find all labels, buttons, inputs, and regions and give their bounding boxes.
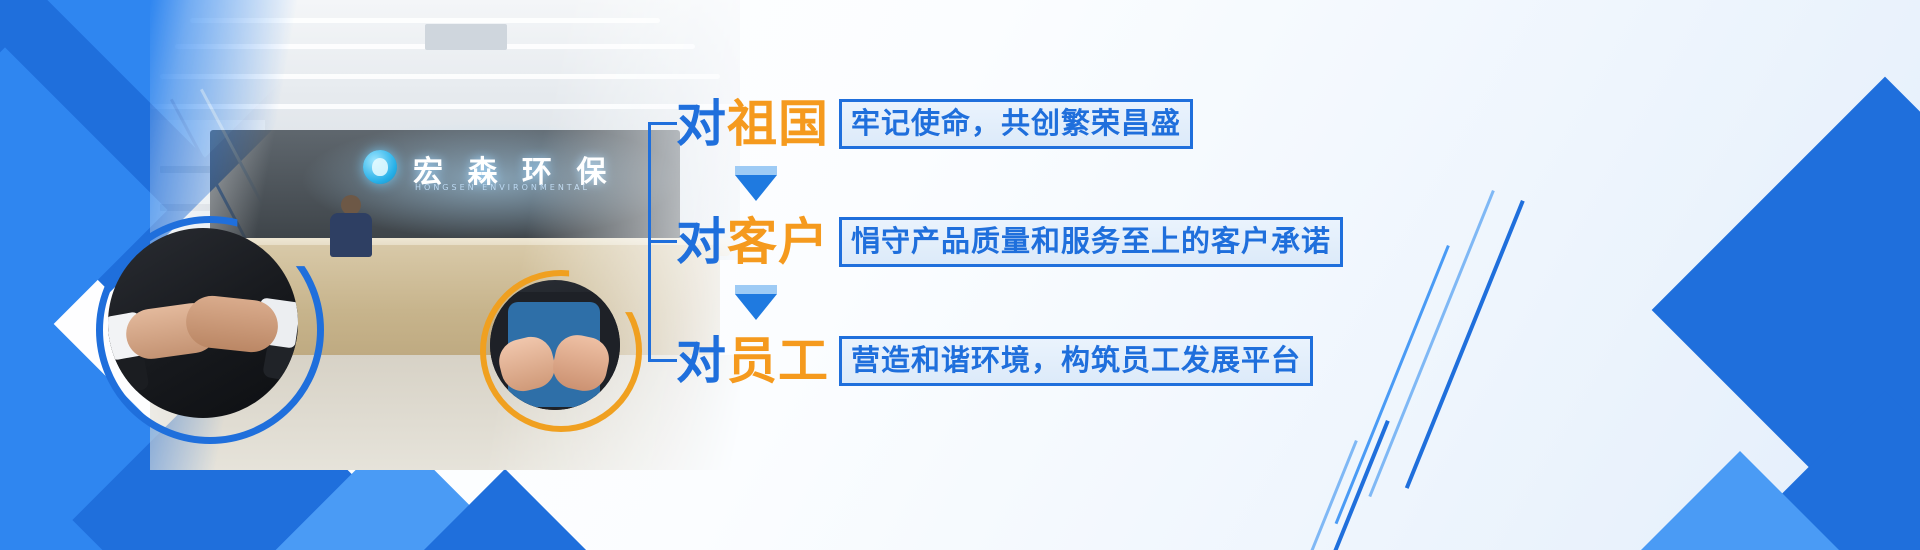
photo-receptionist bbox=[330, 195, 372, 255]
bracket-tick-1 bbox=[651, 122, 677, 125]
decorative-diamond-right-mid bbox=[1751, 391, 1920, 550]
philosophy-lead-country: 对祖国 bbox=[676, 99, 829, 149]
photo-ceiling-light-1 bbox=[190, 18, 660, 23]
philosophy-phrase-customer: 悁守产品质量和服务至上的客户承诺 bbox=[839, 217, 1343, 266]
arrow-down-icon-cap bbox=[735, 285, 777, 294]
arrow-down-icon-triangle bbox=[735, 175, 777, 201]
philosophy-lead-prefix: 对 bbox=[676, 332, 727, 390]
philosophy-lead-employee: 对员工 bbox=[676, 336, 829, 386]
arrow-down-icon-cap bbox=[735, 166, 777, 175]
decorative-line-right-4 bbox=[1322, 420, 1389, 550]
photo-receptionist-body bbox=[330, 213, 372, 257]
decorative-line-right-3 bbox=[1335, 245, 1450, 524]
company-sign-subtitle: HONGSEN ENVIRONMENTAL bbox=[415, 183, 590, 192]
company-philosophy-banner: 宏 森 环 保 HONGSEN ENVIRONMENTAL bbox=[0, 0, 1920, 550]
philosophy-phrase-country: 牢记使命，共创繁荣昌盛 bbox=[839, 99, 1193, 148]
philosophy-lead-prefix: 对 bbox=[676, 213, 727, 271]
philosophy-lead-keyword: 祖国 bbox=[727, 95, 829, 153]
decorative-line-right-2 bbox=[1368, 190, 1494, 497]
bracket-tick-2 bbox=[651, 240, 677, 243]
decorative-line-right-1 bbox=[1405, 200, 1525, 489]
decorative-diamond-right-large bbox=[1652, 77, 1920, 544]
philosophy-lead-prefix: 对 bbox=[676, 95, 727, 153]
philosophy-list: 对祖国 牢记使命，共创繁荣昌盛 对客户 悁守产品质量和服务至上的客户承诺 对员工… bbox=[648, 74, 1348, 404]
decorative-line-right-5 bbox=[1295, 440, 1358, 550]
list-bracket bbox=[648, 122, 679, 362]
philosophy-item-country: 对祖国 牢记使命，共创繁荣昌盛 bbox=[676, 99, 1193, 149]
philosophy-lead-customer: 对客户 bbox=[676, 217, 829, 267]
philosophy-phrase-employee: 营造和谐环境，构筑员工发展平台 bbox=[839, 336, 1313, 385]
globe-leaf-logo-icon bbox=[363, 150, 397, 184]
decorative-diamond-right-small bbox=[1641, 451, 1839, 550]
arrow-down-icon-triangle bbox=[735, 294, 777, 320]
bracket-tick-3 bbox=[651, 359, 677, 362]
philosophy-item-employee: 对员工 营造和谐环境，构筑员工发展平台 bbox=[676, 336, 1313, 386]
philosophy-lead-keyword: 客户 bbox=[727, 213, 829, 271]
photo-receptionist-head bbox=[341, 195, 361, 215]
company-sign: 宏 森 环 保 HONGSEN ENVIRONMENTAL bbox=[355, 145, 620, 199]
philosophy-item-customer: 对客户 悁守产品质量和服务至上的客户承诺 bbox=[676, 217, 1343, 267]
photo-ceiling-vent bbox=[425, 24, 507, 50]
decorative-diamond-bottom-left-4 bbox=[399, 469, 611, 550]
photo-ceiling-light-3 bbox=[160, 74, 720, 79]
philosophy-lead-keyword: 员工 bbox=[727, 332, 829, 390]
